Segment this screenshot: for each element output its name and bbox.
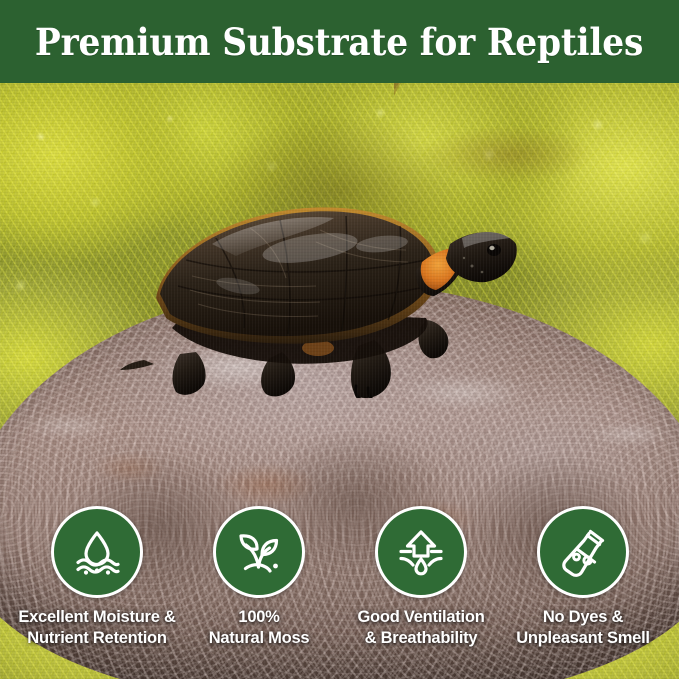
sprout-leaves-icon [232, 525, 286, 579]
feature-label: No Dyes & Unpleasant Smell [516, 607, 650, 649]
feature-ventilation[interactable]: Good Ventilation & Breathability [336, 506, 506, 649]
feature-icon-circle [375, 506, 467, 598]
header-banner: Premium Substrate for Reptiles [0, 0, 679, 83]
feature-label: 100% Natural Moss [209, 607, 310, 649]
flask-no-chemicals-icon [556, 525, 610, 579]
water-drop-waves-icon [70, 525, 124, 579]
feature-natural-moss[interactable]: 100% Natural Moss [174, 506, 344, 649]
feature-label: Excellent Moisture & Nutrient Retention [18, 607, 175, 649]
feature-icon-circle [51, 506, 143, 598]
bog-turtle [120, 178, 520, 398]
feature-label: Good Ventilation & Breathability [357, 607, 484, 649]
airflow-up-arrow-icon [394, 525, 448, 579]
feature-no-dyes[interactable]: No Dyes & Unpleasant Smell [498, 506, 668, 649]
feature-moisture[interactable]: Excellent Moisture & Nutrient Retention [12, 506, 182, 649]
feature-icon-circle [537, 506, 629, 598]
page-title: Premium Substrate for Reptiles [35, 20, 643, 64]
feature-icon-circle [213, 506, 305, 598]
product-infographic: Premium Substrate for Reptiles [0, 0, 679, 679]
